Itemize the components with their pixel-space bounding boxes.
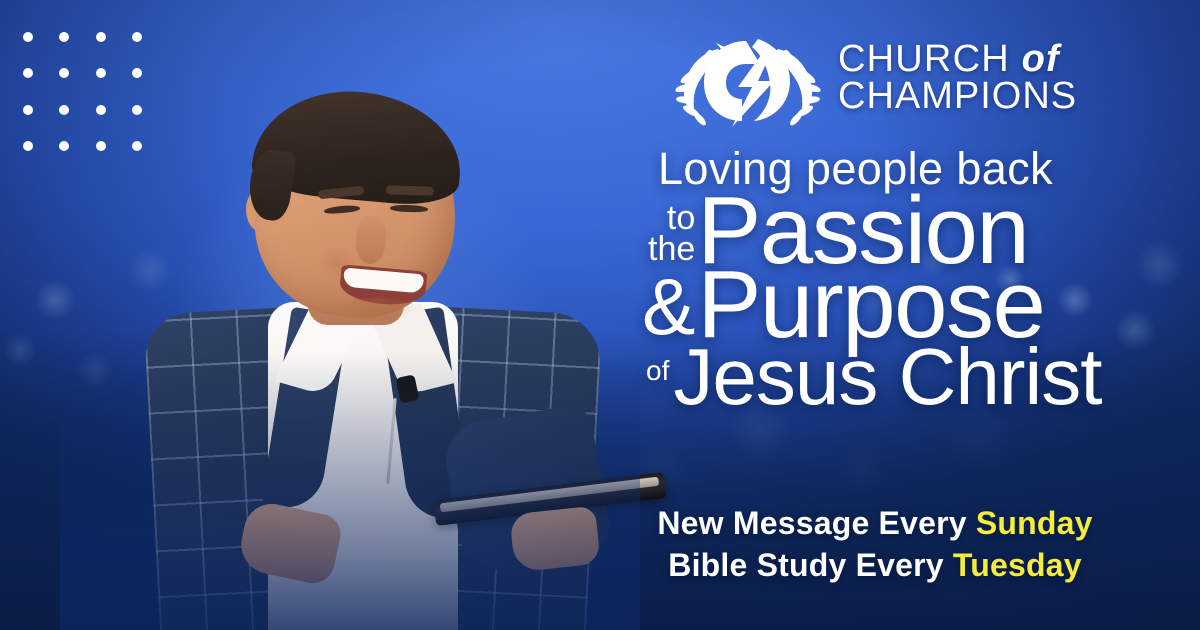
headline-word-jesus-christ: Jesus Christ bbox=[673, 340, 1101, 414]
brand-name-church: CHURCH bbox=[838, 38, 1010, 80]
schedule-sunday-prefix: New Message Every bbox=[657, 505, 975, 541]
schedule-sunday-highlight: Sunday bbox=[976, 505, 1093, 541]
grid-dot bbox=[23, 32, 33, 42]
headline-block: Loving people back to the Passion & Purp… bbox=[640, 146, 1140, 413]
grid-dot bbox=[23, 141, 33, 151]
hand-right bbox=[509, 506, 601, 573]
winged-lightning-laurel-emblem-icon bbox=[672, 25, 824, 129]
speaker-portrait bbox=[60, 10, 640, 630]
headline-word-of: of bbox=[646, 355, 669, 413]
schedule-line-tuesday: Bible Study Every Tuesday bbox=[640, 544, 1110, 586]
chin-shadow bbox=[330, 298, 420, 324]
eyebrow-right bbox=[386, 185, 434, 196]
teeth bbox=[343, 268, 424, 294]
brand-name-of: of bbox=[1022, 38, 1060, 80]
grid-dot bbox=[23, 68, 33, 78]
schedule-tuesday-highlight: Tuesday bbox=[953, 547, 1082, 583]
promo-banner: CHURCH of CHAMPIONS Loving people back t… bbox=[0, 0, 1200, 630]
grid-dot bbox=[23, 105, 33, 115]
schedule-tuesday-prefix: Bible Study Every bbox=[668, 547, 953, 583]
schedule-line-sunday: New Message Every Sunday bbox=[640, 502, 1110, 544]
brand-wordmark: CHURCH of CHAMPIONS bbox=[838, 39, 1077, 115]
schedule-block: New Message Every Sunday Bible Study Eve… bbox=[640, 502, 1110, 586]
brand-logo: CHURCH of CHAMPIONS bbox=[672, 22, 1092, 132]
headline-word-the: the bbox=[648, 234, 695, 265]
headline-line-4: of Jesus Christ bbox=[646, 340, 1140, 414]
brand-name-champions: CHAMPIONS bbox=[838, 78, 1077, 115]
